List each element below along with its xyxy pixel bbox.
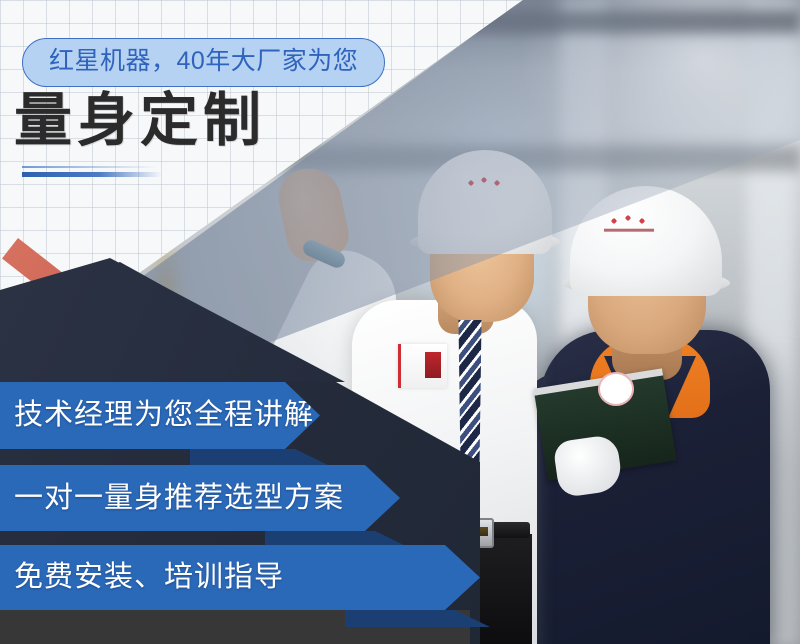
promo-banner: 红星机器，40年大厂家为您 量身定制 技术经理为您全程讲解 一对一量身推荐选型方… — [0, 0, 800, 644]
feature-bar-1: 技术经理为您全程讲解 — [0, 382, 320, 449]
title-underline — [22, 172, 162, 177]
tagline-badge: 红星机器，40年大厂家为您 — [22, 38, 385, 87]
feature-bar-3-label: 免费安装、培训指导 — [0, 563, 284, 592]
feature-bar-3: 免费安装、培训指导 — [0, 545, 480, 610]
helmet-logo-icon — [604, 214, 654, 240]
feature-bar-1-label: 技术经理为您全程讲解 — [0, 401, 314, 430]
feature-bar-2: 一对一量身推荐选型方案 — [0, 465, 400, 531]
feature-bar-2-label: 一对一量身推荐选型方案 — [0, 484, 344, 513]
employee-badge — [398, 344, 447, 388]
sleeve-emblem — [598, 372, 634, 406]
title-underline-thin — [22, 166, 157, 168]
page-title: 量身定制 — [14, 92, 266, 150]
